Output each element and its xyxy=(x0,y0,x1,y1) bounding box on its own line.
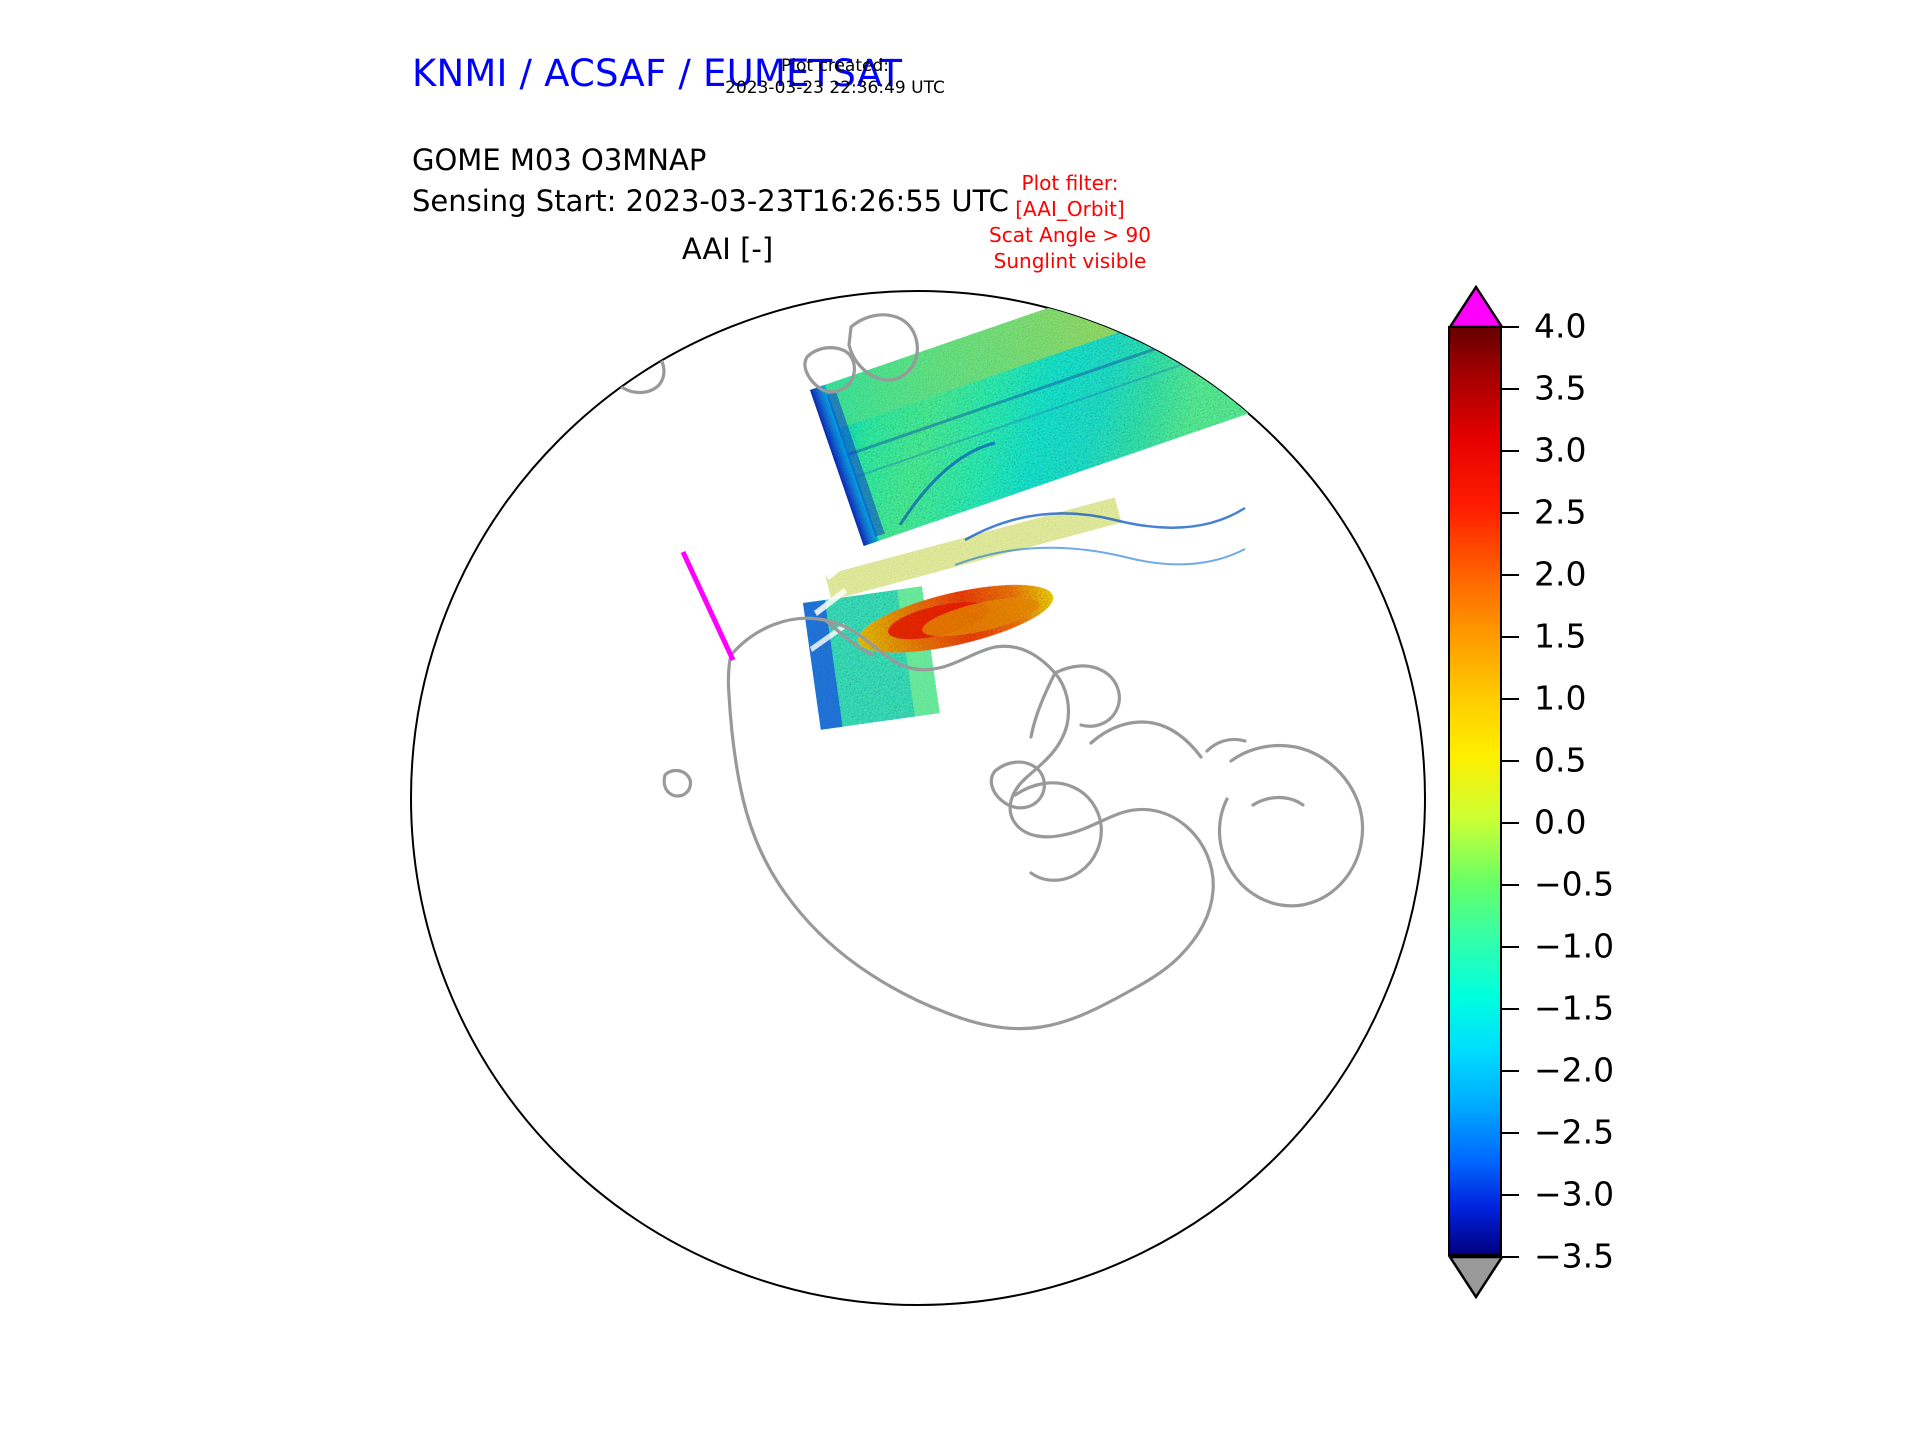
plot-created-block: Plot created: 2023-03-23 22:36:49 UTC xyxy=(695,55,975,99)
colorbar-tick xyxy=(1502,450,1519,452)
colorbar-tick xyxy=(1502,1132,1519,1134)
colorbar-tick xyxy=(1502,822,1519,824)
colorbar-tick-label: 4.0 xyxy=(1534,310,1586,343)
colorbar-tick-label: 2.0 xyxy=(1534,558,1586,591)
plot-created-timestamp: 2023-03-23 22:36:49 UTC xyxy=(695,77,975,99)
colorbar-gradient xyxy=(1448,326,1502,1256)
plot-created-label: Plot created: xyxy=(695,55,975,77)
plot-filter-block: Plot filter: [AAI_Orbit] Scat Angle > 90… xyxy=(920,170,1220,274)
plot-filter-scat-angle: Scat Angle > 90 xyxy=(920,222,1220,248)
colorbar-tick-label: 0.5 xyxy=(1534,744,1586,777)
colorbar-tick-label: 0.0 xyxy=(1534,806,1586,839)
plot-filter-sunglint: Sunglint visible xyxy=(920,248,1220,274)
colorbar-tick-label: −1.0 xyxy=(1534,930,1614,963)
colorbar-tick xyxy=(1502,698,1519,700)
colorbar-tick-label: 3.5 xyxy=(1534,372,1586,405)
variable-title: AAI [-] xyxy=(0,232,1455,266)
colorbar-tick-label: −2.5 xyxy=(1534,1116,1614,1149)
colorbar-tick xyxy=(1502,884,1519,886)
colorbar-tick-label: −2.0 xyxy=(1534,1054,1614,1087)
colorbar-tick xyxy=(1502,636,1519,638)
map-canvas xyxy=(355,275,1415,1335)
colorbar-tick-label: 1.0 xyxy=(1534,682,1586,715)
colorbar: 4.03.53.02.52.01.51.00.50.0−0.5−1.0−1.5−… xyxy=(1448,285,1778,1305)
colorbar-tick xyxy=(1502,326,1519,328)
colorbar-tick-label: −1.5 xyxy=(1534,992,1614,1025)
colorbar-tick xyxy=(1502,946,1519,948)
colorbar-tick xyxy=(1502,760,1519,762)
plot-filter-name: [AAI_Orbit] xyxy=(920,196,1220,222)
colorbar-tick xyxy=(1502,1008,1519,1010)
colorbar-tick xyxy=(1502,1070,1519,1072)
colorbar-tick xyxy=(1502,1256,1519,1258)
colorbar-tick-label: −3.5 xyxy=(1534,1240,1614,1273)
colorbar-tick-label: −0.5 xyxy=(1534,868,1614,901)
satellite-swath xyxy=(803,275,1261,775)
colorbar-tick xyxy=(1502,388,1519,390)
colorbar-tick-label: −3.0 xyxy=(1534,1178,1614,1211)
colorbar-tick-label: 1.5 xyxy=(1534,620,1586,653)
map-panel xyxy=(355,275,1415,1335)
colorbar-tick-label: 2.5 xyxy=(1534,496,1586,529)
colorbar-tick-label: 3.0 xyxy=(1534,434,1586,467)
plot-filter-label: Plot filter: xyxy=(920,170,1220,196)
colorbar-tick xyxy=(1502,512,1519,514)
colorbar-tick xyxy=(1502,574,1519,576)
colorbar-under-arrow xyxy=(1448,1256,1504,1299)
colorbar-over-arrow xyxy=(1448,285,1504,328)
colorbar-tick xyxy=(1502,1194,1519,1196)
